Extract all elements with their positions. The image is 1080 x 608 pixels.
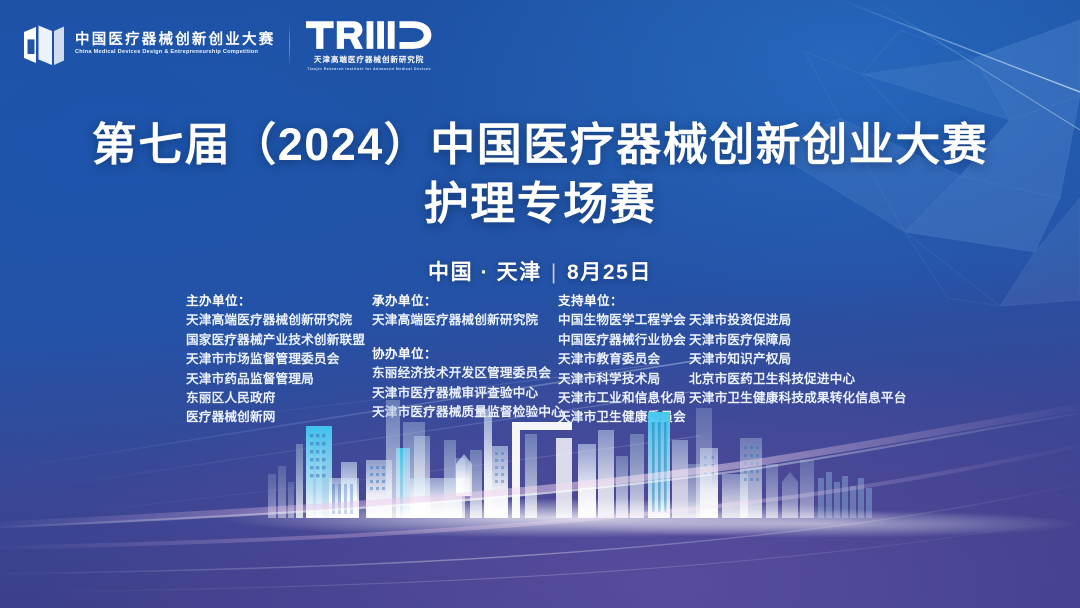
organizer-item: 国家医疗器械产业技术创新联盟 <box>186 331 372 350</box>
organizer-item: 医疗器械创新网 <box>186 408 372 427</box>
organizer-item: 中国医疗器械行业协会 <box>558 331 689 350</box>
organizer-item: 天津市科学技术局 <box>558 370 689 389</box>
logo-bar: 中国医疗器械创新创业大赛 China Medical Devices Desig… <box>22 18 432 71</box>
organizer-group: 天津市投资促进局 天津市医疗保障局 天津市知识产权局 北京市医药卫生科技促进中心… <box>689 292 907 408</box>
organizer-heading: 协办单位： <box>372 345 558 364</box>
competition-logo-en: China Medical Devices Design & Entrepren… <box>75 49 275 56</box>
event-subtitle: 中国 · 天津|8月25日 <box>0 256 1080 286</box>
logo-divider <box>289 23 290 67</box>
title-line-2: 护理专场赛 <box>0 177 1080 232</box>
organizer-item: 天津市知识产权局 <box>689 350 907 369</box>
organizer-item: 东丽经济技术开发区管理委员会 <box>372 364 558 383</box>
organizer-item: 天津市教育委员会 <box>558 350 689 369</box>
organizer-item: 天津市医疗器械审评查验中心 <box>372 384 558 403</box>
organizer-item: 北京市医药卫生科技促进中心 <box>689 370 907 389</box>
organizer-group: 主办单位： 天津高端医疗器械创新研究院 国家医疗器械产业技术创新联盟 天津市市场… <box>186 292 372 428</box>
event-date: 8月25日 <box>567 261 652 284</box>
organizer-item: 天津市卫生健康科技成果转化信息平台 <box>689 389 907 408</box>
organizer-item: 天津市投资促进局 <box>689 311 907 330</box>
organizer-column-host: 主办单位： 天津高端医疗器械创新研究院 国家医疗器械产业技术创新联盟 天津市市场… <box>186 292 372 428</box>
organizer-columns: 主办单位： 天津高端医疗器械创新研究院 国家医疗器械产业技术创新联盟 天津市市场… <box>186 292 946 428</box>
poster-title: 第七届（2024）中国医疗器械创新创业大赛 护理专场赛 <box>0 118 1080 232</box>
event-poster: 中国医疗器械创新创业大赛 China Medical Devices Desig… <box>0 0 1080 608</box>
title-line-1: 第七届（2024）中国医疗器械创新创业大赛 <box>0 118 1080 173</box>
triid-logo-cn: 天津高端医疗器械创新研究院 <box>314 54 424 65</box>
open-book-door-icon <box>22 24 66 66</box>
event-location: 中国 · 天津 <box>428 261 542 284</box>
organizer-item: 天津高端医疗器械创新研究院 <box>372 311 558 330</box>
organizer-column-undertaker: 承办单位： 天津高端医疗器械创新研究院 协办单位： 东丽经济技术开发区管理委员会… <box>372 292 558 422</box>
competition-logo: 中国医疗器械创新创业大赛 China Medical Devices Desig… <box>22 24 275 66</box>
organizer-group: 承办单位： 天津高端医疗器械创新研究院 <box>372 292 558 331</box>
competition-logo-cn: 中国医疗器械创新创业大赛 <box>75 33 275 48</box>
organizer-group: 支持单位： 中国生物医学工程学会 中国医疗器械行业协会 天津市教育委员会 天津市… <box>558 292 689 428</box>
column-offset-spacer <box>689 292 907 311</box>
organizer-item: 天津市工业和信息化局 <box>558 389 689 408</box>
organizer-item: 天津市卫生健康委员会 <box>558 408 689 427</box>
organizer-item: 天津市医疗保障局 <box>689 331 907 350</box>
organizer-item: 东丽区人民政府 <box>186 389 372 408</box>
organizer-item: 天津市市场监督管理委员会 <box>186 350 372 369</box>
triid-wordmark-icon <box>306 18 431 52</box>
organizer-item: 天津市药品监督管理局 <box>186 370 372 389</box>
triid-logo: 天津高端医疗器械创新研究院 Tianjin Research Institute… <box>306 18 431 71</box>
triid-logo-en: Tianjin Research Institute for Advanced … <box>307 67 431 71</box>
organizer-heading: 支持单位： <box>558 292 689 311</box>
organizer-column-supporters-a: 支持单位： 中国生物医学工程学会 中国医疗器械行业协会 天津市教育委员会 天津市… <box>558 292 689 428</box>
organizer-item: 中国生物医学工程学会 <box>558 311 689 330</box>
organizer-heading: 主办单位： <box>186 292 372 311</box>
organizer-column-supporters-b: 天津市投资促进局 天津市医疗保障局 天津市知识产权局 北京市医药卫生科技促进中心… <box>689 292 907 408</box>
organizer-heading: 承办单位： <box>372 292 558 311</box>
organizer-item: 天津市医疗器械质量监督检验中心 <box>372 403 558 422</box>
subtitle-separator: | <box>551 261 558 285</box>
organizer-item: 天津高端医疗器械创新研究院 <box>186 311 372 330</box>
organizer-group: 协办单位： 东丽经济技术开发区管理委员会 天津市医疗器械审评查验中心 天津市医疗… <box>372 345 558 423</box>
